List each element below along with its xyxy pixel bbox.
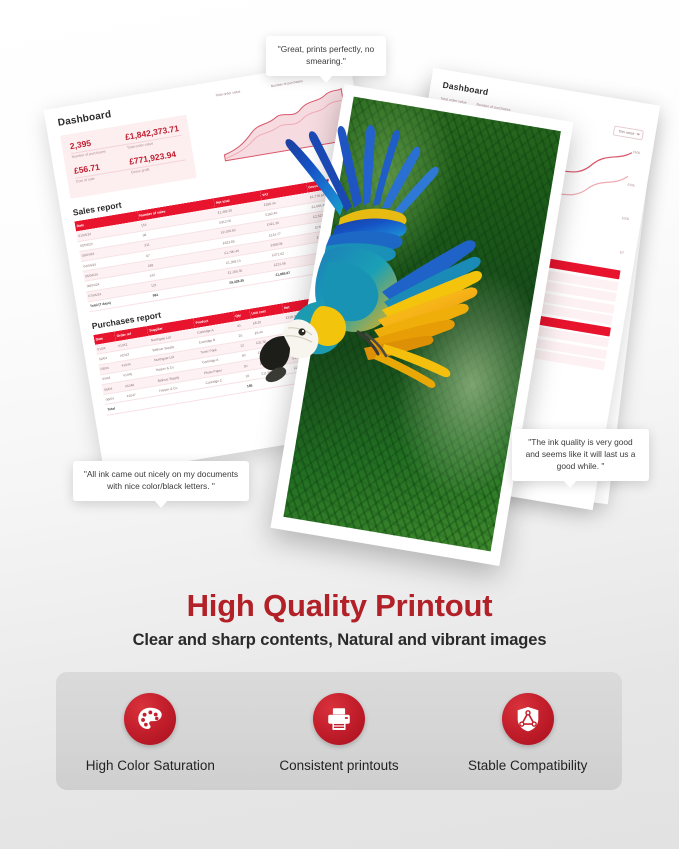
kpi-gross-profit: £771,923.94 Gross profit (128, 148, 186, 175)
feature-label: Consistent printouts (279, 758, 398, 773)
y-tick: £0 (620, 250, 624, 255)
shield-icon (513, 704, 543, 734)
kpi-cost-of-sale: £56.71 Cost of sale (73, 157, 131, 184)
testimonial-bubble-top: "Great, prints perfectly, no smearing." (266, 36, 386, 76)
chevron-down-icon (636, 133, 640, 136)
feature-stable-compatibility: Stable Compatibility (433, 672, 622, 790)
page-title: High Quality Printout (0, 588, 679, 624)
kpi-panel: 2,395 Number of purchases £1,842,373.71 … (60, 115, 197, 199)
table-cell: 185 (245, 379, 263, 392)
palette-icon-badge (124, 693, 176, 745)
kpi-number-of-purchases: 2,395 Number of purchases (69, 132, 127, 159)
printer-icon (324, 704, 354, 734)
feature-high-color-saturation: High Color Saturation (56, 672, 245, 790)
period-select-value: This week (618, 129, 635, 136)
testimonial-bubble-left: "All ink came out nicely on my documents… (73, 461, 249, 501)
feature-bar: High Color Saturation Consistent printou… (56, 672, 622, 790)
feature-label: High Color Saturation (86, 758, 215, 773)
table-cell: Total (105, 401, 128, 415)
kpi-total-order-value: £1,842,373.71 Total order value (124, 123, 182, 150)
period-select[interactable]: This week (613, 125, 644, 140)
feature-consistent-printouts: Consistent printouts (245, 672, 434, 790)
area-chart-svg (213, 84, 353, 163)
y-tick: £40k (627, 183, 635, 188)
page-subtitle: Clear and sharp contents, Natural and vi… (0, 631, 679, 650)
y-tick: £60k (633, 150, 641, 155)
hero-collage: Dashboard Total order value £1,842,373.7… (0, 0, 679, 575)
product-marketing-image: Dashboard Total order value £1,842,373.7… (0, 0, 679, 849)
y-tick: £20k (622, 216, 630, 221)
palette-icon (135, 704, 165, 734)
shield-icon-badge (502, 693, 554, 745)
testimonial-bubble-right: "The ink quality is very good and seems … (512, 429, 649, 481)
printer-icon-badge (313, 693, 365, 745)
feature-label: Stable Compatibility (468, 758, 587, 773)
